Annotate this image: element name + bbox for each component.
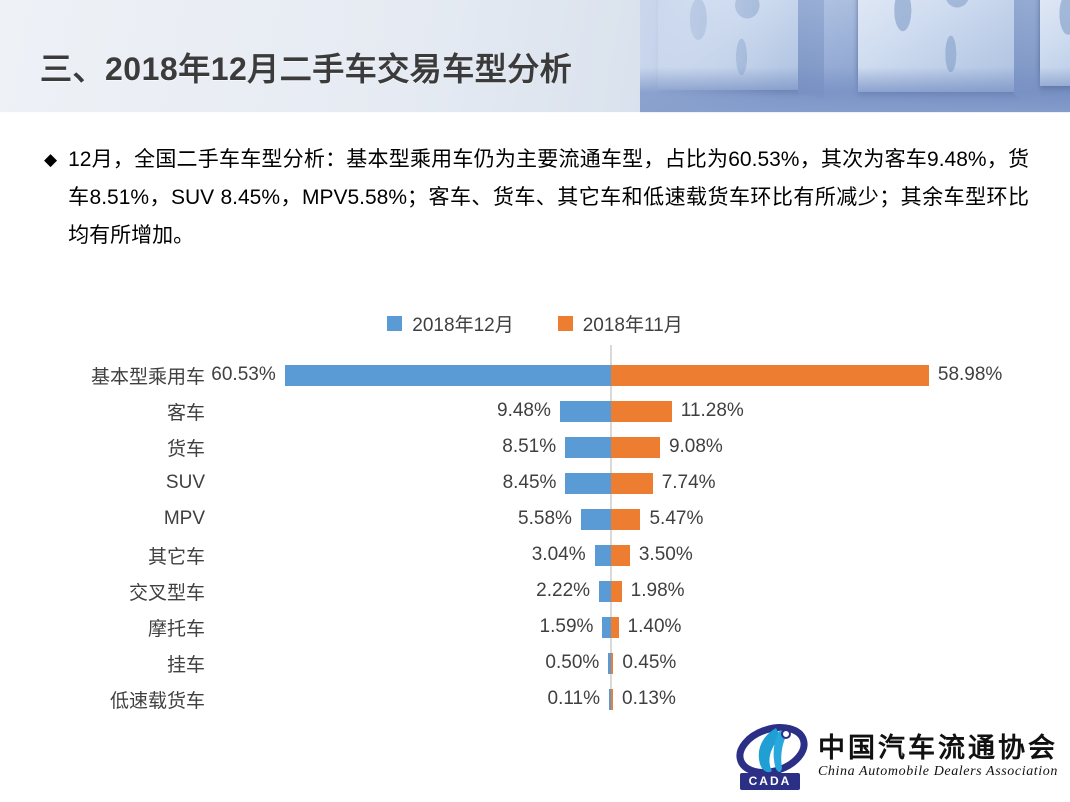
slide-header: 三、2018年12月二手车交易车型分析	[0, 0, 1070, 113]
chart-value-dec: 0.50%	[210, 645, 599, 681]
chart-bar-nov[interactable]	[611, 473, 653, 494]
cada-name-cn: 中国汽车流通协会	[818, 734, 1058, 762]
chart-bar-nov[interactable]	[611, 617, 619, 638]
chart-bar-dec[interactable]	[595, 545, 611, 566]
legend-label-nov: 2018年11月	[583, 310, 683, 337]
chart-category-label: SUV	[60, 465, 205, 501]
legend-item-nov[interactable]: 2018年11月	[558, 310, 683, 337]
chart-category-label: 挂车	[60, 645, 205, 681]
chart-bar-nov[interactable]	[611, 401, 672, 422]
legend-item-dec[interactable]: 2018年12月	[387, 310, 513, 337]
chart-category-label: 交叉型车	[60, 573, 205, 609]
chart-bar-nov[interactable]	[611, 653, 613, 674]
chart-row: 其它车3.04%3.50%	[0, 537, 1070, 573]
chart-value-nov: 3.50%	[639, 537, 693, 573]
summary-paragraph-block: ◆ 12月，全国二手车车型分析：基本型乘用车仍为主要流通车型，占比为60.53%…	[44, 141, 1029, 255]
chart-value-nov: 0.13%	[622, 681, 676, 717]
chart-bar-dec[interactable]	[581, 509, 611, 530]
bullet-diamond-icon: ◆	[44, 141, 57, 179]
chart-row: 货车8.51%9.08%	[0, 429, 1070, 465]
header-image-fade	[640, 0, 780, 113]
chart-plot-area: 基本型乘用车60.53%58.98%客车9.48%11.28%货车8.51%9.…	[0, 345, 1070, 720]
chart-category-label: MPV	[60, 501, 205, 537]
chart-bar-dec[interactable]	[560, 401, 611, 422]
chart-bar-dec[interactable]	[599, 581, 611, 602]
chart-value-dec: 9.48%	[210, 393, 551, 429]
chart-value-nov: 1.98%	[631, 573, 685, 609]
chart-row: 客车9.48%11.28%	[0, 393, 1070, 429]
chart-bar-dec[interactable]	[285, 365, 611, 386]
chart-value-nov: 58.98%	[938, 357, 1002, 393]
chart-row: MPV5.58%5.47%	[0, 501, 1070, 537]
chart-value-dec: 8.45%	[210, 465, 556, 501]
chart-value-dec: 60.53%	[210, 357, 276, 393]
vehicle-type-chart: 2018年12月 2018年11月 基本型乘用车60.53%58.98%客车9.…	[0, 300, 1070, 720]
cube-icon	[858, 0, 1018, 92]
chart-value-nov: 9.08%	[669, 429, 723, 465]
chart-value-nov: 7.74%	[662, 465, 716, 501]
cube-icon	[1040, 0, 1070, 86]
chart-bar-nov[interactable]	[611, 581, 622, 602]
chart-row: 摩托车1.59%1.40%	[0, 609, 1070, 645]
legend-label-dec: 2018年12月	[412, 310, 513, 337]
header-divider	[0, 112, 1070, 113]
chart-value-nov: 5.47%	[649, 501, 703, 537]
chart-value-nov: 1.40%	[628, 609, 682, 645]
legend-swatch-blue	[387, 316, 402, 331]
cada-badge-text: CADA	[740, 773, 800, 790]
chart-value-dec: 8.51%	[210, 429, 556, 465]
chart-category-label: 摩托车	[60, 609, 205, 645]
chart-value-dec: 5.58%	[210, 501, 572, 537]
cada-name-en: China Automobile Dealers Association	[818, 764, 1058, 780]
chart-row: 低速载货车0.11%0.13%	[0, 681, 1070, 717]
chart-value-nov: 11.28%	[681, 393, 744, 429]
chart-bar-nov[interactable]	[611, 545, 630, 566]
chart-bar-nov[interactable]	[611, 365, 929, 386]
chart-row: 基本型乘用车60.53%58.98%	[0, 357, 1070, 393]
chart-bar-nov[interactable]	[611, 509, 640, 530]
summary-paragraph-text: 12月，全国二手车车型分析：基本型乘用车仍为主要流通车型，占比为60.53%，其…	[68, 141, 1029, 255]
chart-category-label: 低速载货车	[60, 681, 205, 717]
chart-value-nov: 0.45%	[622, 645, 676, 681]
chart-value-dec: 0.11%	[210, 681, 600, 717]
chart-row: 交叉型车2.22%1.98%	[0, 573, 1070, 609]
header-decoration-image	[640, 0, 1070, 113]
chart-value-dec: 3.04%	[210, 537, 586, 573]
chart-legend: 2018年12月 2018年11月	[0, 310, 1070, 337]
chart-bar-nov[interactable]	[611, 437, 660, 458]
legend-swatch-orange	[558, 316, 573, 331]
chart-row: SUV8.45%7.74%	[0, 465, 1070, 501]
chart-bar-dec[interactable]	[602, 617, 611, 638]
chart-value-dec: 2.22%	[210, 573, 590, 609]
chart-category-label: 货车	[60, 429, 205, 465]
cada-emblem-icon: CADA	[736, 724, 808, 790]
chart-bar-dec[interactable]	[565, 437, 611, 458]
chart-bar-dec[interactable]	[565, 473, 611, 494]
page-title: 三、2018年12月二手车交易车型分析	[40, 44, 572, 90]
slide: 三、2018年12月二手车交易车型分析 ◆ 12月，全国二手车车型分析：基本型乘…	[0, 0, 1070, 802]
chart-row: 挂车0.50%0.45%	[0, 645, 1070, 681]
cada-logo: CADA 中国汽车流通协会 China Automobile Dealers A…	[736, 724, 1058, 790]
chart-category-label: 基本型乘用车	[60, 357, 205, 393]
chart-value-dec: 1.59%	[210, 609, 593, 645]
chart-category-label: 客车	[60, 393, 205, 429]
cada-logo-text: 中国汽车流通协会 China Automobile Dealers Associ…	[818, 734, 1058, 779]
chart-category-label: 其它车	[60, 537, 205, 573]
chart-bar-nov[interactable]	[611, 689, 613, 710]
